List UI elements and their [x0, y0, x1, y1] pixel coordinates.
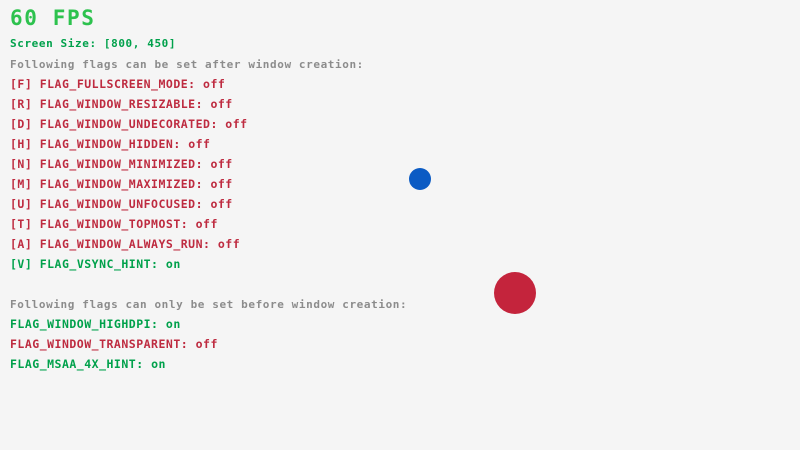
- flag-row[interactable]: FLAG_MSAA_4X_HINT: on: [10, 359, 166, 371]
- flag-row[interactable]: [D] FLAG_WINDOW_UNDECORATED: off: [10, 119, 248, 131]
- flag-row[interactable]: [R] FLAG_WINDOW_RESIZABLE: off: [10, 99, 233, 111]
- flag-row[interactable]: [A] FLAG_WINDOW_ALWAYS_RUN: off: [10, 239, 240, 251]
- flag-value: on: [151, 357, 166, 371]
- flag-name: FLAG_MSAA_4X_HINT:: [10, 357, 151, 371]
- screen-size-label: Screen Size: [800, 450]: [10, 38, 176, 49]
- flag-name: FLAG_WINDOW_RESIZABLE:: [40, 97, 211, 111]
- flag-key: [R]: [10, 97, 40, 111]
- flag-value: off: [196, 337, 218, 351]
- flag-name: FLAG_VSYNC_HINT:: [40, 257, 166, 271]
- flag-value: off: [210, 197, 232, 211]
- flag-row[interactable]: FLAG_WINDOW_HIGHDPI: on: [10, 319, 181, 331]
- flag-value: off: [203, 77, 225, 91]
- flag-key: [N]: [10, 157, 40, 171]
- flag-name: FLAG_WINDOW_HIDDEN:: [40, 137, 188, 151]
- red-ball: [494, 272, 536, 314]
- flag-name: FLAG_WINDOW_ALWAYS_RUN:: [40, 237, 218, 251]
- flag-value: off: [196, 217, 218, 231]
- flag-row[interactable]: [U] FLAG_WINDOW_UNFOCUSED: off: [10, 199, 233, 211]
- flag-value: off: [210, 97, 232, 111]
- flag-name: FLAG_WINDOW_MINIMIZED:: [40, 157, 211, 171]
- flag-row[interactable]: [T] FLAG_WINDOW_TOPMOST: off: [10, 219, 218, 231]
- flag-value: on: [166, 257, 181, 271]
- flag-row[interactable]: [M] FLAG_WINDOW_MAXIMIZED: off: [10, 179, 233, 191]
- flag-key: [M]: [10, 177, 40, 191]
- flag-key: [U]: [10, 197, 40, 211]
- flag-value: off: [225, 117, 247, 131]
- fps-counter: 60 FPS: [10, 8, 95, 29]
- flag-value: on: [166, 317, 181, 331]
- flag-row[interactable]: [N] FLAG_WINDOW_MINIMIZED: off: [10, 159, 233, 171]
- flag-key: [H]: [10, 137, 40, 151]
- flag-name: FLAG_WINDOW_UNFOCUSED:: [40, 197, 211, 211]
- flag-row[interactable]: [F] FLAG_FULLSCREEN_MODE: off: [10, 79, 225, 91]
- flag-key: [D]: [10, 117, 40, 131]
- flag-value: off: [210, 177, 232, 191]
- flag-row[interactable]: [V] FLAG_VSYNC_HINT: on: [10, 259, 181, 271]
- flag-row[interactable]: FLAG_WINDOW_TRANSPARENT: off: [10, 339, 218, 351]
- flag-name: FLAG_WINDOW_TOPMOST:: [40, 217, 196, 231]
- flag-name: FLAG_WINDOW_HIGHDPI:: [10, 317, 166, 331]
- flag-name: FLAG_WINDOW_TRANSPARENT:: [10, 337, 196, 351]
- flag-name: FLAG_WINDOW_MAXIMIZED:: [40, 177, 211, 191]
- flag-value: off: [188, 137, 210, 151]
- section-header-before-creation: Following flags can only be set before w…: [10, 299, 407, 310]
- raylib-window-canvas: 60 FPS Screen Size: [800, 450] Following…: [0, 0, 800, 450]
- blue-ball: [409, 168, 431, 190]
- flag-key: [A]: [10, 237, 40, 251]
- flag-key: [T]: [10, 217, 40, 231]
- flag-name: FLAG_FULLSCREEN_MODE:: [40, 77, 203, 91]
- flag-key: [V]: [10, 257, 40, 271]
- flag-name: FLAG_WINDOW_UNDECORATED:: [40, 117, 226, 131]
- flag-value: off: [210, 157, 232, 171]
- flag-row[interactable]: [H] FLAG_WINDOW_HIDDEN: off: [10, 139, 210, 151]
- flag-value: off: [218, 237, 240, 251]
- section-header-after-creation: Following flags can be set after window …: [10, 59, 364, 70]
- flag-key: [F]: [10, 77, 40, 91]
